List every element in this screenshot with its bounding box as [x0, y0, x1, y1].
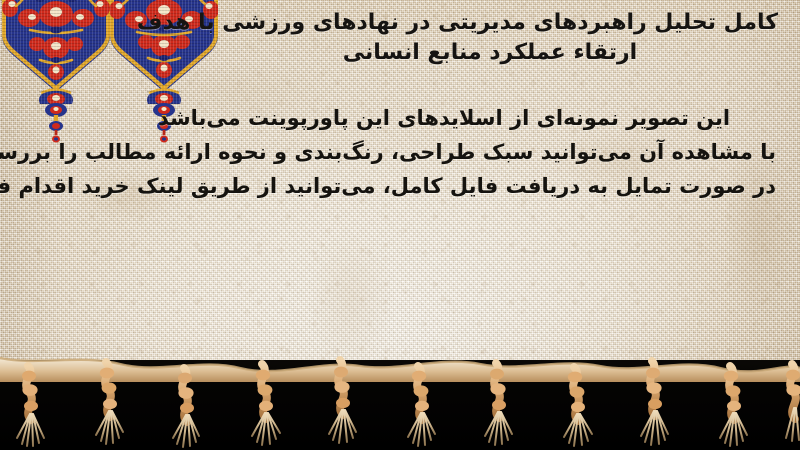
slide-canvas: کامل تحلیل راهبردهای مدیریتی در نهادهای …	[0, 0, 800, 450]
medallion-left-icon	[0, 0, 116, 104]
fringe-icon	[0, 352, 800, 450]
slide-body: این تصویر نمونه‌ای از اسلایدهای این پاور…	[20, 108, 776, 197]
slide-body-line-1: این تصویر نمونه‌ای از اسلایدهای این پاور…	[20, 108, 776, 129]
slide-title-line-1: کامل تحلیل راهبردهای مدیریتی در نهادهای …	[202, 8, 778, 38]
slide-title: کامل تحلیل راهبردهای مدیریتی در نهادهای …	[202, 8, 778, 69]
slide-body-line-3: در صورت تمایل به دریافت فایل کامل، می‌تو…	[20, 176, 776, 197]
slide-title-line-2: ارتقاء عملکرد منابع انسانی	[202, 38, 778, 68]
persian-carpet-medallion-left	[0, 0, 116, 108]
carpet-fringe-tassels	[0, 352, 800, 450]
slide-body-line-2: با مشاهده آن می‌توانید سبک طراحی، رنگ‌بن…	[20, 142, 776, 163]
